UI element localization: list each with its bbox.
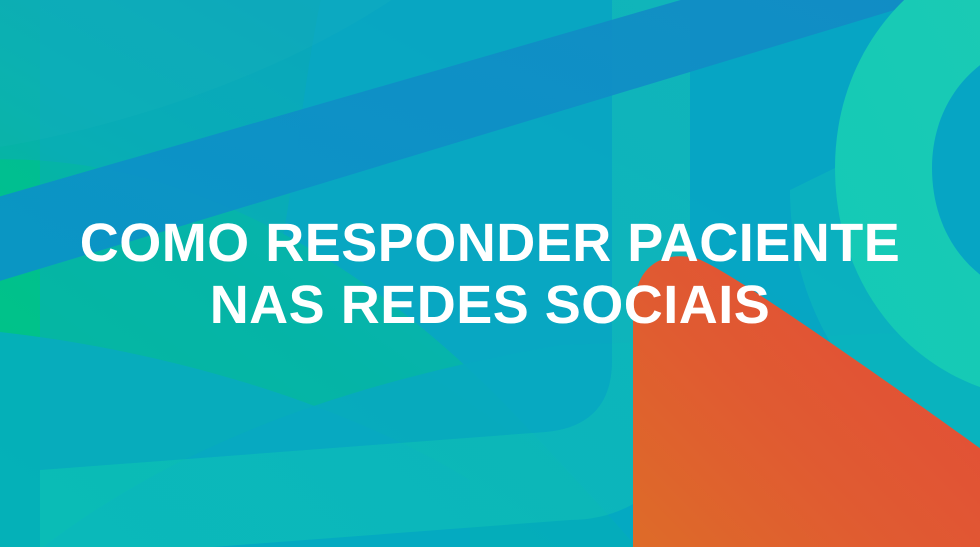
social-media-banner: COMO RESPONDER PACIENTE NAS REDES SOCIAI… bbox=[0, 0, 980, 547]
background-artwork bbox=[0, 0, 980, 547]
